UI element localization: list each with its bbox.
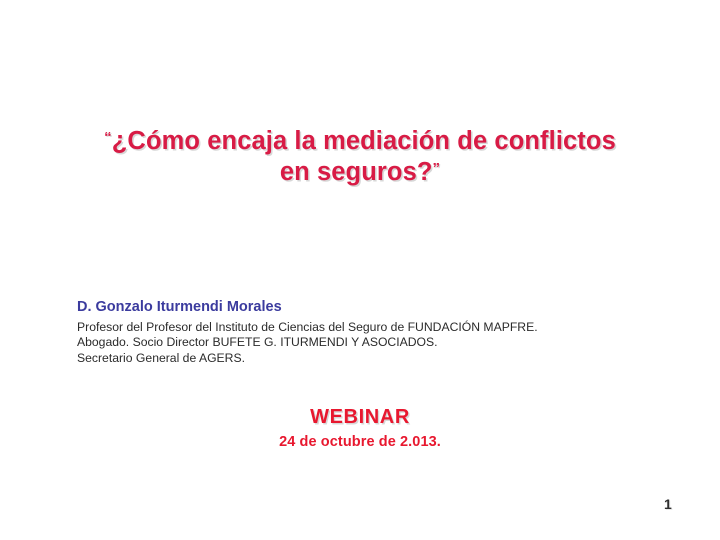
title-text-line-2: en seguros? bbox=[280, 158, 433, 186]
open-quote-mark: “ bbox=[104, 129, 112, 146]
author-detail-line: Secretario General de AGERS. bbox=[77, 351, 657, 366]
author-detail-line: Profesor del Profesor del Instituto de C… bbox=[77, 320, 657, 335]
title-line-2: en seguros?” bbox=[60, 157, 660, 188]
author-detail-line: Abogado. Socio Director BUFETE G. ITURME… bbox=[77, 335, 657, 350]
author-name: D. Gonzalo Iturmendi Morales bbox=[77, 298, 657, 318]
webinar-heading: WEBINAR bbox=[60, 405, 660, 430]
presentation-slide: “¿Cómo encaja la mediación de conflictos… bbox=[0, 0, 720, 540]
webinar-block: WEBINAR 24 de octubre de 2.013. bbox=[60, 405, 660, 452]
slide-title: “¿Cómo encaja la mediación de conflictos… bbox=[60, 126, 660, 188]
title-text-line-1: ¿Cómo encaja la mediación de conflictos bbox=[112, 127, 616, 155]
author-block: D. Gonzalo Iturmendi Morales Profesor de… bbox=[77, 298, 657, 366]
close-quote-mark: ” bbox=[433, 160, 441, 177]
title-line-1: “¿Cómo encaja la mediación de conflictos bbox=[60, 126, 660, 157]
webinar-date: 24 de octubre de 2.013. bbox=[60, 433, 660, 452]
page-number: 1 bbox=[664, 496, 672, 512]
